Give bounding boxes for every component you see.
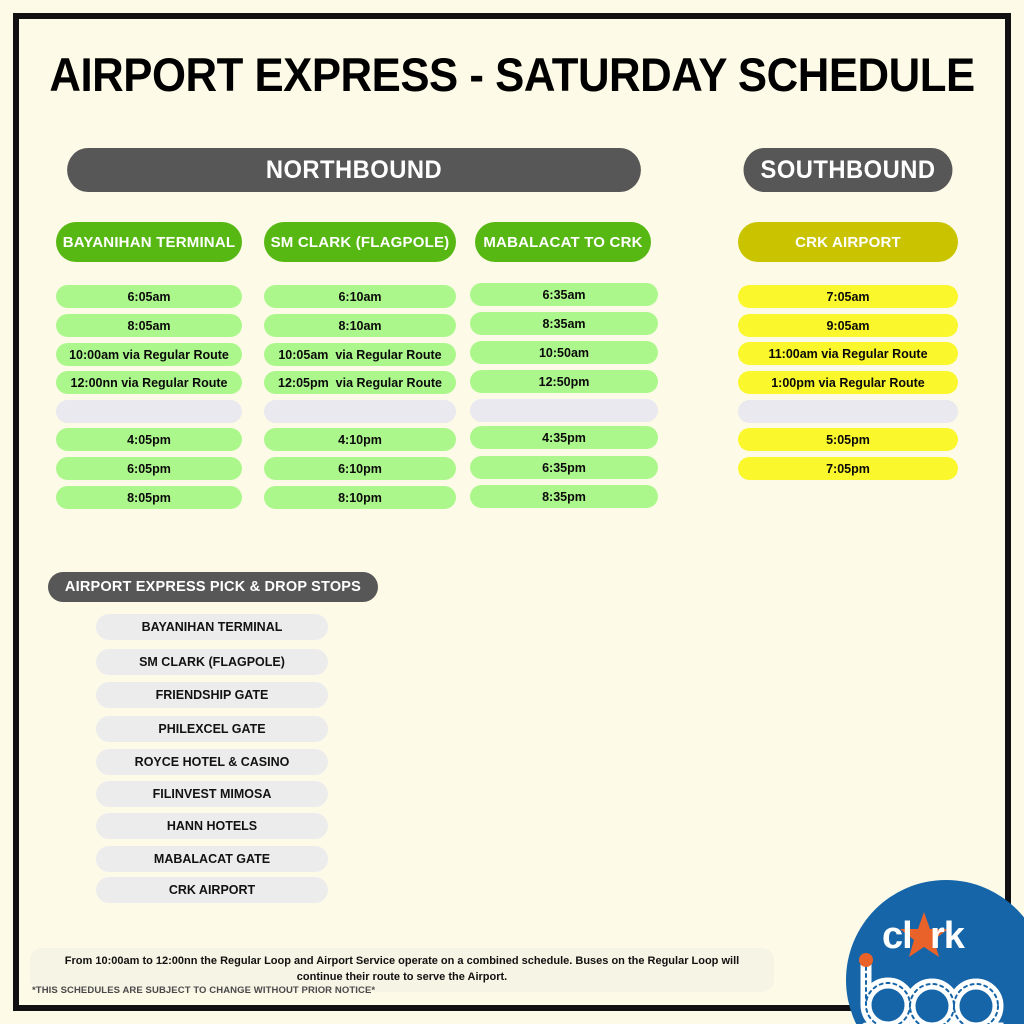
time-pill: 5:05pm	[738, 428, 958, 451]
logo-brand-top: cl	[882, 915, 912, 957]
time-pill-empty	[470, 399, 658, 422]
schedule-poster: AIRPORT EXPRESS - SATURDAY SCHEDULE NORT…	[0, 0, 1024, 1024]
stop-item: BAYANIHAN TERMINAL	[96, 614, 328, 640]
time-pill: 8:35pm	[470, 485, 658, 508]
column-header-label: SM CLARK (FLAGPOLE)	[271, 234, 450, 251]
column-header-crk-airport: CRK AIRPORT	[738, 222, 958, 262]
route-endpoint-dot	[859, 953, 873, 967]
logo-brand-top-cont: rk	[930, 915, 966, 957]
time-pill: 8:10pm	[264, 486, 456, 509]
stop-item: CRK AIRPORT	[96, 877, 328, 903]
stops-section-header-label: AIRPORT EXPRESS PICK & DROP STOPS	[65, 579, 361, 595]
route-line-dashes	[866, 960, 998, 1024]
column-header-mabalacat-to-crk: MABALACAT TO CRK	[475, 222, 651, 262]
time-pill: 6:05am	[56, 285, 242, 308]
stop-item: FILINVEST MIMOSA	[96, 781, 328, 807]
time-pill: 1:00pm via Regular Route	[738, 371, 958, 394]
stop-item: ROYCE HOTEL & CASINO	[96, 749, 328, 775]
time-pill-empty	[738, 400, 958, 423]
time-pill: 12:00nn via Regular Route	[56, 371, 242, 394]
column-header-bayanihan-terminal: BAYANIHAN TERMINAL	[56, 222, 242, 262]
time-pill: 10:00am via Regular Route	[56, 343, 242, 366]
time-pill: 8:35am	[470, 312, 658, 335]
northbound-label: NORTHBOUND	[266, 156, 442, 185]
time-pill: 6:10pm	[264, 457, 456, 480]
poster-content: AIRPORT EXPRESS - SATURDAY SCHEDULE NORT…	[0, 0, 1024, 1024]
time-pill: 10:50am	[470, 341, 658, 364]
column-header-label: CRK AIRPORT	[795, 234, 901, 251]
time-pill: 8:05am	[56, 314, 242, 337]
time-pill: 12:05pm via Regular Route	[264, 371, 456, 394]
northbound-banner: NORTHBOUND	[67, 148, 641, 192]
column-header-label: BAYANIHAN TERMINAL	[63, 234, 236, 251]
time-pill: 8:10am	[264, 314, 456, 337]
page-title: AIRPORT EXPRESS - SATURDAY SCHEDULE	[36, 47, 988, 102]
time-pill: 7:05pm	[738, 457, 958, 480]
time-pill: 11:00am via Regular Route	[738, 342, 958, 365]
stop-item: FRIENDSHIP GATE	[96, 682, 328, 708]
time-pill: 7:05am	[738, 285, 958, 308]
clark-loop-logo: cl rk	[846, 880, 1024, 1024]
southbound-label: SOUTHBOUND	[761, 156, 936, 185]
time-pill: 4:05pm	[56, 428, 242, 451]
time-pill: 4:10pm	[264, 428, 456, 451]
time-pill: 10:05am via Regular Route	[264, 343, 456, 366]
time-pill: 8:05pm	[56, 486, 242, 509]
time-pill: 6:35pm	[470, 456, 658, 479]
time-pill: 9:05am	[738, 314, 958, 337]
time-pill: 6:35am	[470, 283, 658, 306]
stop-item: SM CLARK (FLAGPOLE)	[96, 649, 328, 675]
time-pill-empty	[56, 400, 242, 423]
time-pill: 4:35pm	[470, 426, 658, 449]
time-pill: 6:05pm	[56, 457, 242, 480]
footer-disclaimer: *THIS SCHEDULES ARE SUBJECT TO CHANGE WI…	[32, 985, 375, 996]
stop-item: HANN HOTELS	[96, 813, 328, 839]
time-pill-empty	[264, 400, 456, 423]
clark-loop-logo-graphic: cl rk	[846, 880, 1024, 1024]
column-header-sm-clark-flagpole: SM CLARK (FLAGPOLE)	[264, 222, 456, 262]
column-header-label: MABALACAT TO CRK	[483, 234, 642, 251]
time-pill: 6:10am	[264, 285, 456, 308]
southbound-banner: SOUTHBOUND	[744, 148, 953, 192]
stop-item: PHILEXCEL GATE	[96, 716, 328, 742]
stops-section-header: AIRPORT EXPRESS PICK & DROP STOPS	[48, 572, 378, 602]
stop-item: MABALACAT GATE	[96, 846, 328, 872]
route-line-icon	[866, 960, 998, 1024]
time-pill: 12:50pm	[470, 370, 658, 393]
